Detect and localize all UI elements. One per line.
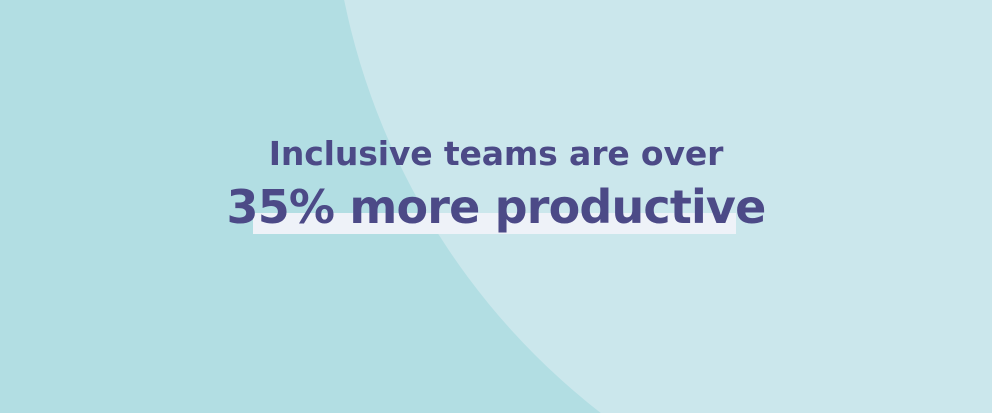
headline-line-top: Inclusive teams are over	[0, 136, 992, 172]
promo-banner: Inclusive teams are over 35% more produc…	[0, 0, 992, 413]
headline-block: Inclusive teams are over 35% more produc…	[0, 0, 992, 413]
headline-line-bottom: 35% more productive	[0, 181, 992, 233]
